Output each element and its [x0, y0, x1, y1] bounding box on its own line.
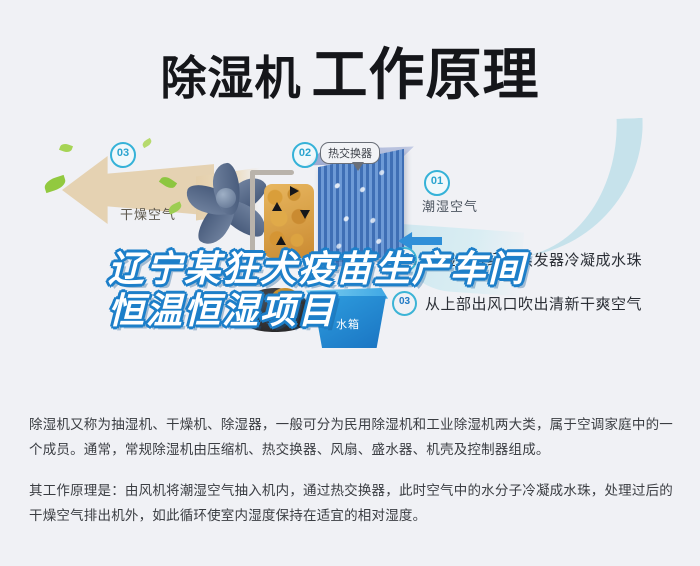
title-part-2: 工作原理 — [312, 43, 540, 106]
paragraph-1: 除湿机又称为抽湿机、干燥机、除湿器，一般可分为民用除湿机和工业除湿机两大类，属于… — [29, 412, 673, 462]
infographic-page: 除湿机工作原理 干燥空气 — [0, 0, 700, 566]
arrow-up-icon — [276, 236, 286, 245]
arrow-down-icon — [300, 210, 310, 219]
paragraph-2: 其工作原理是：由风机将潮湿空气抽入机内，通过热交换器，此时空气中的水分子冷凝成水… — [29, 478, 673, 528]
watermark-line-2: 恒温恒湿项目 — [108, 290, 608, 332]
arrow-up-icon — [272, 202, 282, 211]
leaf-icon — [141, 138, 153, 148]
leaf-icon — [59, 142, 73, 154]
callout-pointer-icon — [352, 162, 364, 171]
title-part-1: 除湿机 — [161, 52, 302, 104]
diagram-badge-01: 01 — [424, 170, 450, 196]
watermark-overlay: 辽宁某狂犬疫苗生产车间 恒温恒湿项目 — [108, 248, 608, 333]
diagram-badge-02: 02 — [292, 142, 318, 168]
page-title: 除湿机工作原理 — [0, 30, 700, 111]
humid-air-label: 潮湿空气 — [422, 196, 478, 215]
diagram-badge-03: 03 — [110, 142, 136, 168]
body-copy: 除湿机又称为抽湿机、干燥机、除湿器，一般可分为民用除湿机和工业除湿机两大类，属于… — [29, 412, 673, 544]
arrow-right-icon — [290, 186, 299, 196]
dry-air-label: 干燥空气 — [120, 204, 176, 223]
heat-exchanger-callout: 热交换器 — [320, 142, 380, 164]
watermark-line-1: 辽宁某狂犬疫苗生产车间 — [108, 248, 608, 290]
